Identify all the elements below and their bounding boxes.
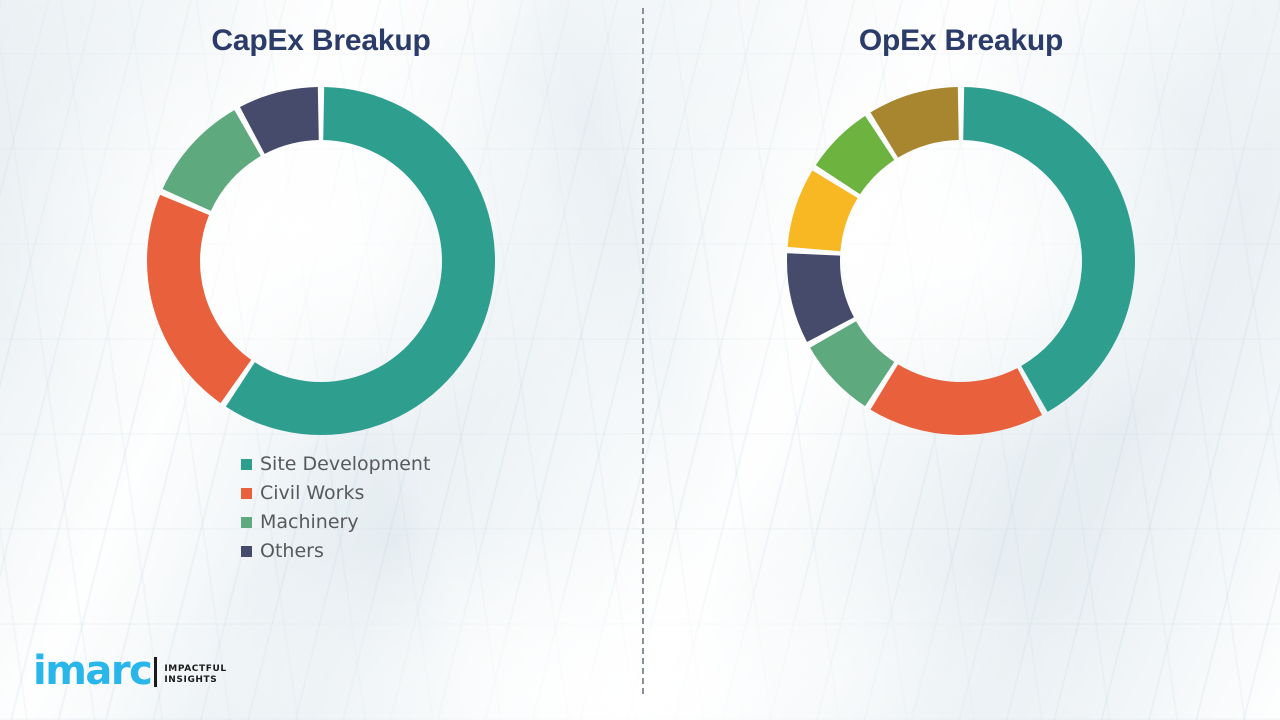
logo-tagline-line2: INSIGHTS xyxy=(164,675,226,686)
legend-item-label: Machinery xyxy=(260,511,359,533)
capex-chart-title: CapEx Breakup xyxy=(0,24,642,58)
legend-item[interactable]: Civil Works xyxy=(241,478,430,507)
logo-wordmark: imarc xyxy=(33,652,151,690)
legend-swatch-icon xyxy=(241,517,252,528)
capex-donut-chart[interactable]: Site DevelopmentCivil WorksMachineryOthe… xyxy=(145,85,497,437)
panel-divider xyxy=(642,8,644,694)
capex-panel: CapEx Breakup Site DevelopmentCivil Work… xyxy=(0,0,642,720)
slide-canvas: CapEx Breakup Site DevelopmentCivil Work… xyxy=(0,0,1280,720)
legend-swatch-icon xyxy=(241,546,252,557)
donut-segment[interactable]: Salaries and Wages xyxy=(870,364,1042,435)
legend-item-label: Others xyxy=(260,540,324,562)
donut-segment[interactable]: Civil Works xyxy=(147,195,251,403)
legend-item-label: Site Development xyxy=(260,453,430,475)
logo-tagline: IMPACTFUL INSIGHTS xyxy=(164,664,226,686)
legend-item[interactable]: Site Development xyxy=(241,449,430,478)
capex-donut-wrap: Site DevelopmentCivil WorksMachineryOthe… xyxy=(0,85,642,437)
opex-chart-title: OpEx Breakup xyxy=(642,24,1280,58)
opex-panel: OpEx Breakup Raw MaterialsSalaries and W… xyxy=(642,0,1280,720)
legend-item[interactable]: Machinery xyxy=(241,507,430,536)
donut-segment[interactable]: Raw Materials xyxy=(963,87,1135,412)
capex-legend: Site DevelopmentCivil WorksMachineryOthe… xyxy=(241,449,430,565)
imarc-logo: imarc IMPACTFUL INSIGHTS xyxy=(33,652,227,690)
logo-divider-bar xyxy=(154,657,157,687)
opex-donut-wrap: Raw MaterialsSalaries and WagesUtilityTr… xyxy=(642,85,1280,437)
legend-swatch-icon xyxy=(241,459,252,470)
opex-donut-chart[interactable]: Raw MaterialsSalaries and WagesUtilityTr… xyxy=(785,85,1137,437)
donut-segment[interactable]: Machinery xyxy=(163,110,261,211)
legend-swatch-icon xyxy=(241,488,252,499)
legend-item[interactable]: Others xyxy=(241,536,430,565)
legend-item-label: Civil Works xyxy=(260,482,364,504)
logo-tagline-line1: IMPACTFUL xyxy=(164,664,226,675)
